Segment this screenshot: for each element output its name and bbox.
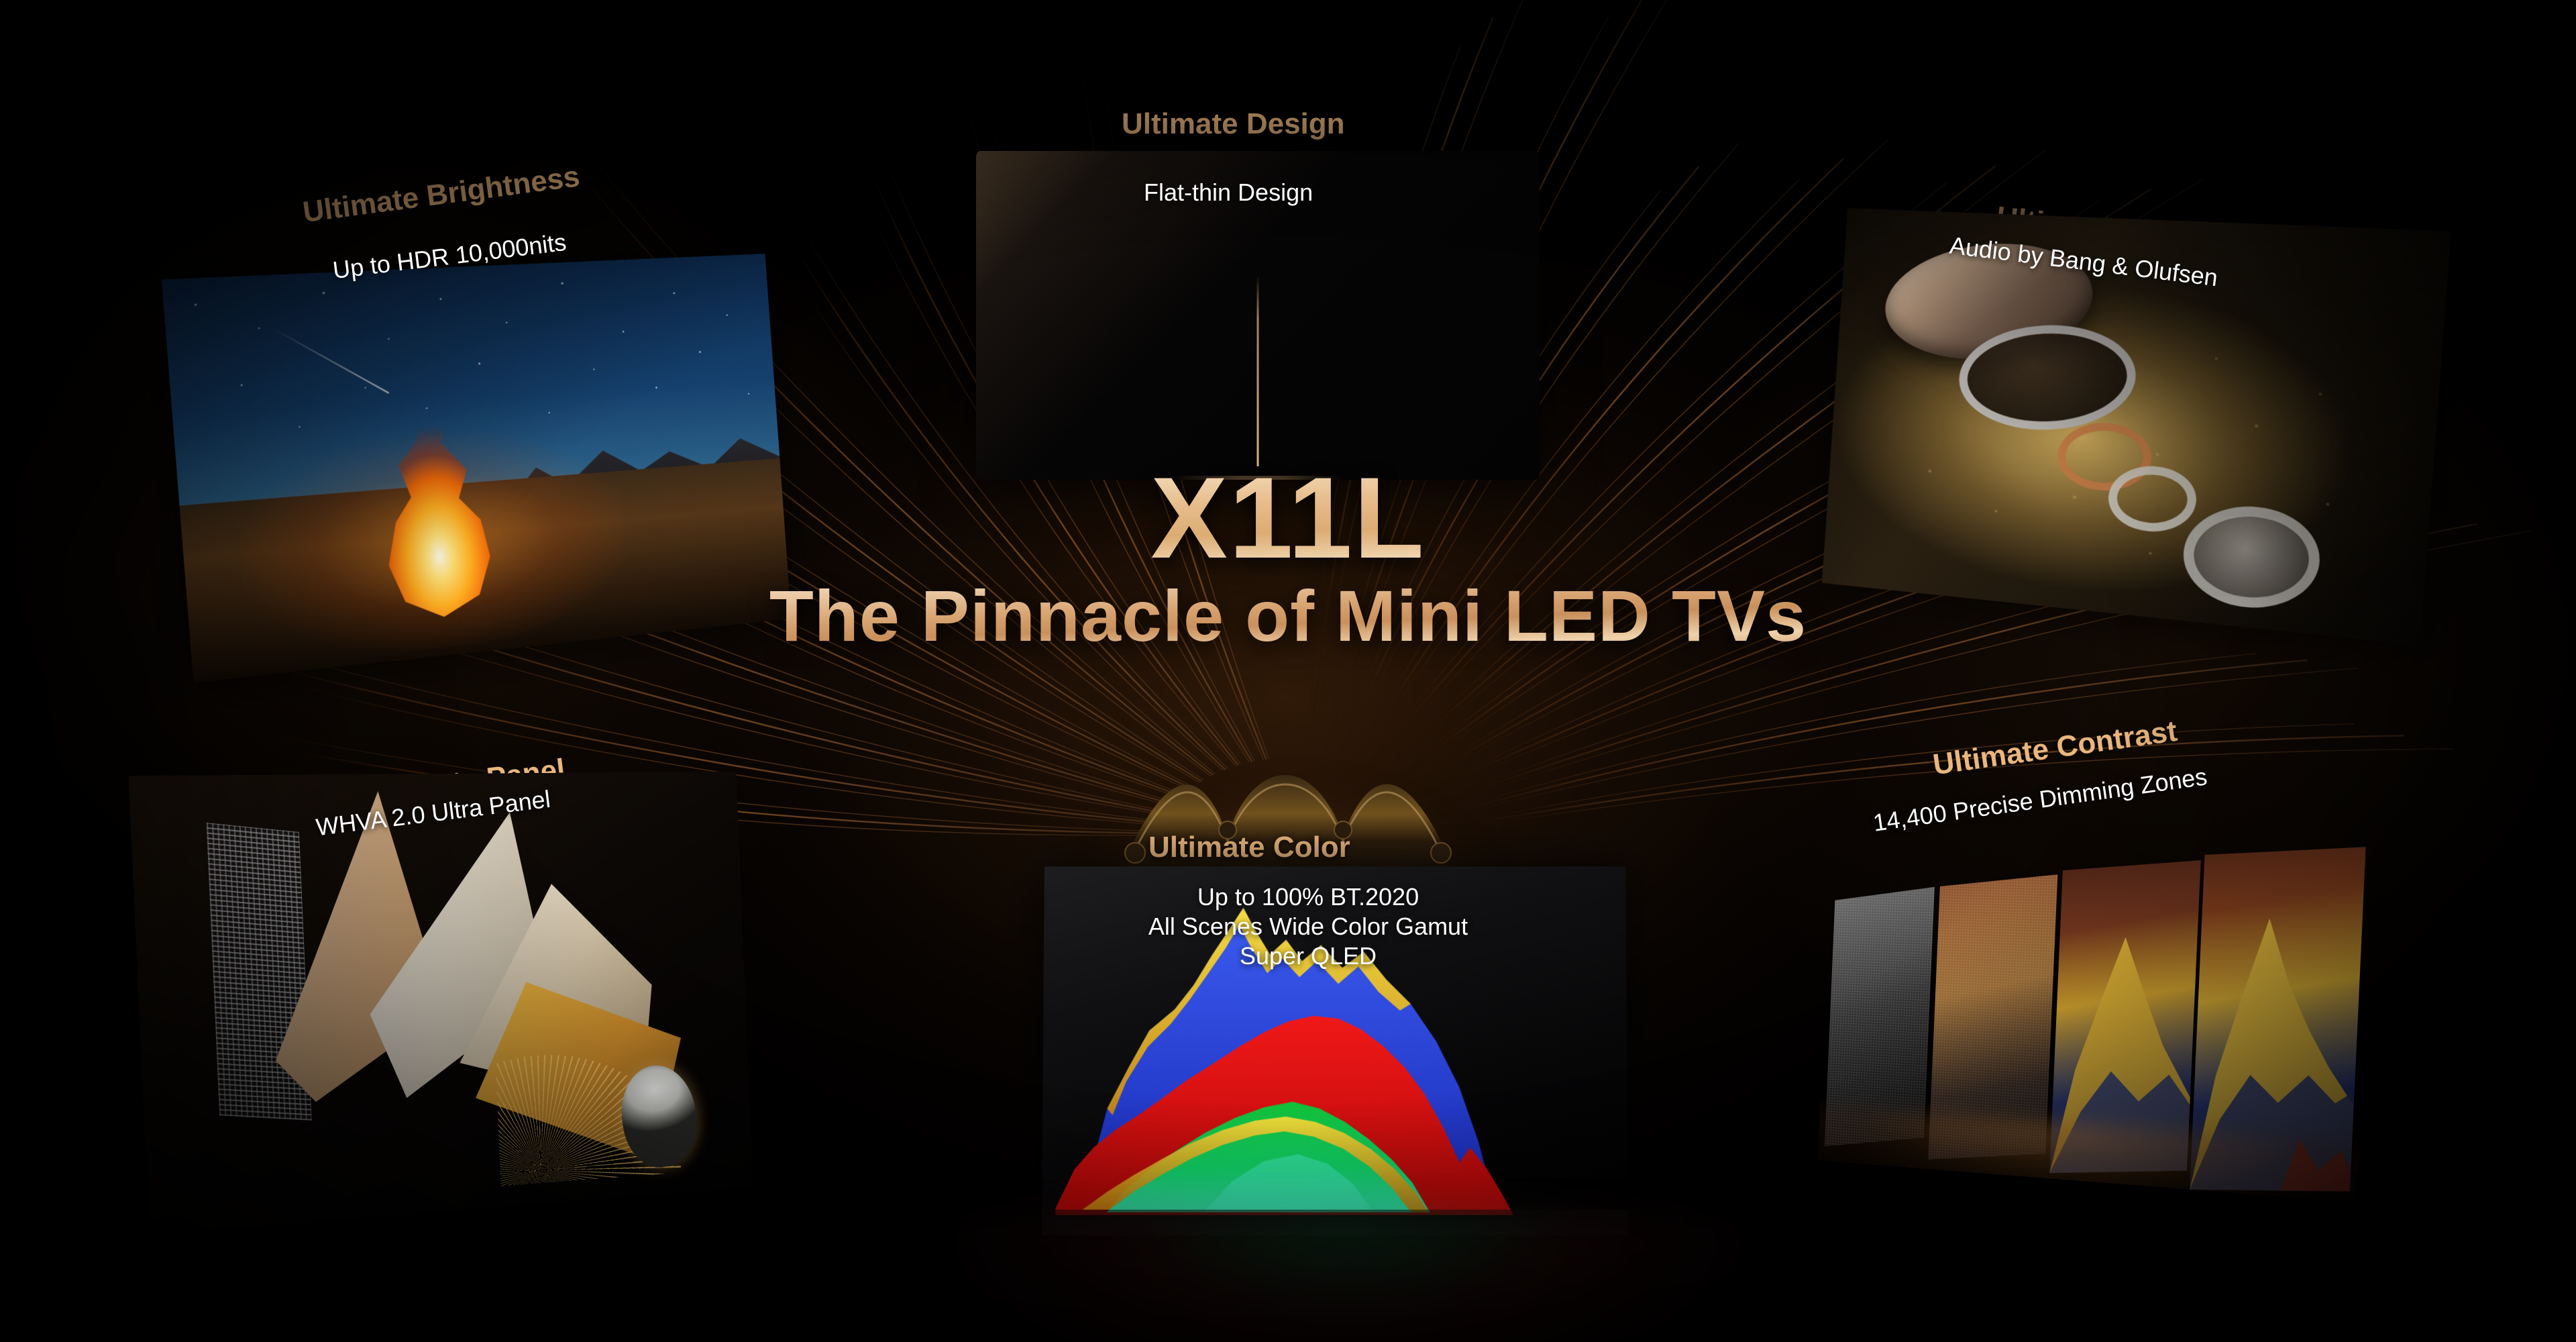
feature-design: Ultimate Design: [1122, 107, 1345, 141]
feature-contrast-sub-wrap: 14,400 Precise Dimming Zones: [1871, 762, 2208, 837]
contrast-media: [1818, 825, 2375, 1202]
feature-color: Ultimate Color: [1148, 831, 1350, 864]
feature-design-title: Ultimate Design: [1122, 107, 1345, 141]
feature-design-subtitle: Flat-thin Design: [1144, 178, 1313, 207]
color-floor-glow: [912, 1215, 1784, 1342]
feature-color-subtitle-1: Up to 100% BT.2020: [1107, 882, 1509, 912]
hero-model-name: X11L: [416, 463, 2160, 574]
feature-brightness-title: Ultimate Brightness: [301, 160, 582, 229]
feature-color-subtitle-3: Super QLED: [1107, 941, 1509, 971]
promo-stage: Ultimate Brightness Up to HDR 10,000nits: [0, 0, 2576, 1342]
feature-brightness: Ultimate Brightness: [301, 160, 582, 229]
feature-color-sub-wrap: Up to 100% BT.2020 All Scenes Wide Color…: [1107, 882, 1509, 971]
tv-edge-seam: [1257, 276, 1259, 466]
feature-color-subtitle-2: All Scenes Wide Color Gamut: [1107, 912, 1509, 941]
hero-tagline: The Pinnacle of Mini LED TVs: [416, 578, 2160, 654]
feature-contrast-subtitle: 14,400 Precise Dimming Zones: [1871, 762, 2208, 837]
panel-media: [129, 772, 753, 1235]
feature-design-sub-wrap: Flat-thin Design: [1144, 178, 1313, 207]
feature-color-title: Ultimate Color: [1148, 831, 1350, 864]
hero-block: X11L The Pinnacle of Mini LED TVs: [416, 463, 2160, 654]
